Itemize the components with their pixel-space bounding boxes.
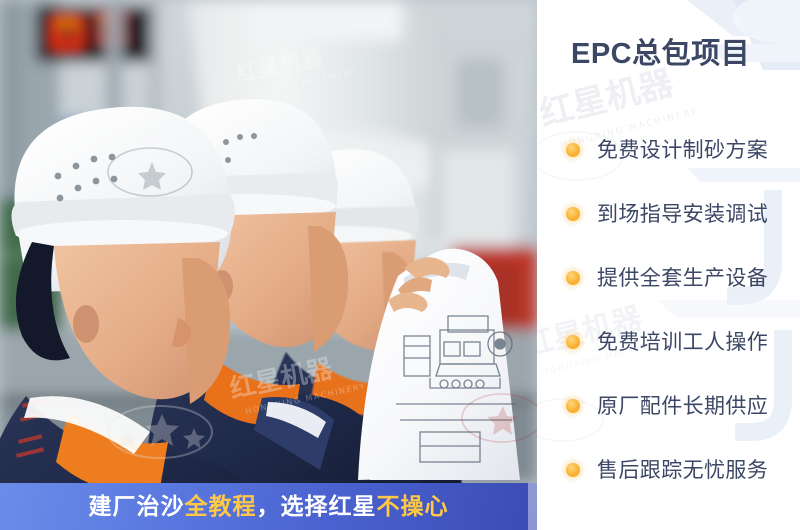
bullet-dot-icon	[560, 457, 586, 483]
workers-blueprint-photo: 红星机器 HONGXING MACHINERY 红星机器 HONGXING MA…	[0, 0, 537, 483]
bullet-dot-icon	[560, 393, 586, 419]
epc-promo-banner: 红星机器 HONGXING MACHINERY 红星机器 HONGXING MA…	[0, 0, 800, 530]
list-item: 售后跟踪无忧服务	[557, 438, 800, 502]
bullet-dot-icon	[560, 265, 586, 291]
tagline-segment-3: ，选择红星	[257, 493, 377, 519]
list-item: 提供全套生产设备	[557, 246, 800, 310]
feature-label: 提供全套生产设备	[597, 268, 768, 289]
bullet-dot-icon	[560, 137, 586, 163]
tagline-bar: 建厂治沙全教程，选择红星不操心	[0, 483, 537, 530]
tagline-bar-edge	[528, 483, 537, 530]
epc-feature-panel: 红星机器 HONGXING MACHINERY 红星机器 HONGXING MA…	[537, 0, 800, 530]
tagline-segment-2-highlight: 全教程	[185, 493, 257, 519]
list-item: 免费培训工人操作	[557, 310, 800, 374]
feature-label: 免费培训工人操作	[597, 332, 768, 353]
photo-illustration: 红星机器 HONGXING MACHINERY 红星机器 HONGXING MA…	[0, 0, 537, 483]
list-item: 原厂配件长期供应	[557, 374, 800, 438]
bullet-dot-icon	[560, 201, 586, 227]
feature-list: 免费设计制砂方案 到场指导安装调试 提供全套生产设备 免费培训工人操作 原厂配件…	[557, 118, 800, 502]
feature-label: 原厂配件长期供应	[597, 396, 768, 417]
bullet-dot-icon	[560, 329, 586, 355]
page-title: EPC总包项目	[571, 40, 750, 69]
tagline-text: 建厂治沙全教程，选择红星不操心	[89, 495, 449, 518]
tagline-segment-4-highlight: 不操心	[377, 493, 449, 519]
list-item: 免费设计制砂方案	[557, 118, 800, 182]
list-item: 到场指导安装调试	[557, 182, 800, 246]
tagline-segment-1: 建厂治沙	[89, 493, 185, 519]
feature-label: 免费设计制砂方案	[597, 140, 768, 161]
feature-label: 到场指导安装调试	[597, 204, 768, 225]
feature-label: 售后跟踪无忧服务	[597, 460, 768, 481]
